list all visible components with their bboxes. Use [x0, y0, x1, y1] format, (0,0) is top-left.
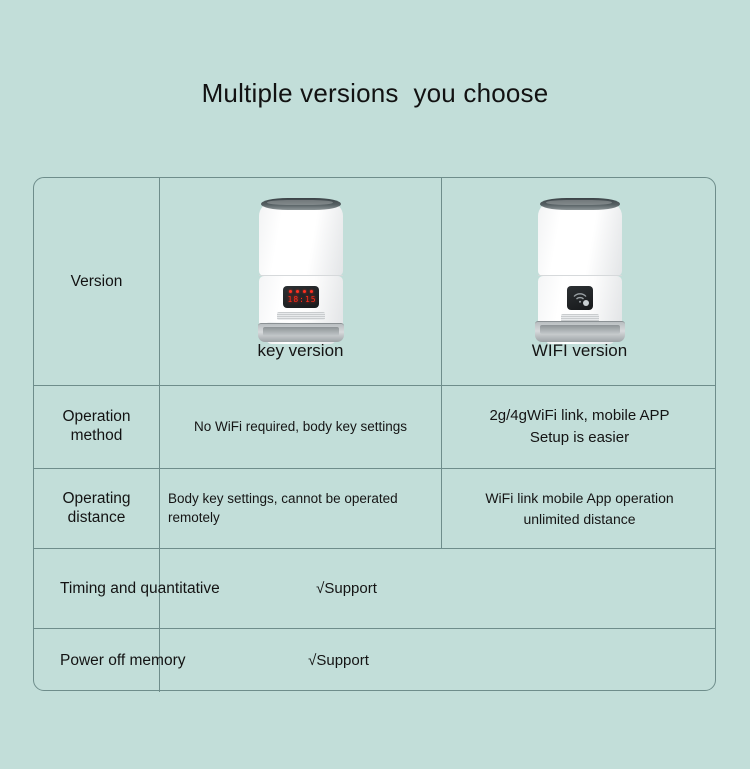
- table-row: Operating distance Body key settings, ca…: [34, 468, 715, 548]
- camera-panel: [567, 286, 593, 310]
- indicator-dot-icon: [583, 300, 589, 306]
- operation-wifi-line2: Setup is easier: [489, 427, 669, 449]
- pet-feeder-key-icon: 18:15: [253, 196, 349, 344]
- row-label-line1: Operating: [62, 490, 130, 509]
- row-label-line2: distance: [62, 509, 130, 528]
- distance-wifi-line2: unlimited distance: [485, 509, 673, 530]
- caption-wifi-version: WIFI version: [442, 341, 717, 361]
- cell-power-support: √Support: [160, 629, 717, 692]
- cell-timing-support: √Support: [160, 549, 717, 628]
- cell-operation-wifi: 2g/4gWiFi link, mobile APP Setup is easi…: [442, 386, 717, 468]
- cell-key-version: 18:15 key version: [160, 178, 441, 385]
- row-label-line2: method: [62, 427, 130, 446]
- food-tray: [258, 323, 344, 342]
- cell-distance-wifi: WiFi link mobile App operation unlimited…: [442, 469, 717, 548]
- comparison-table: Version 18:15 key version: [33, 177, 716, 691]
- led-digits: 18:15: [288, 295, 317, 304]
- led-display-panel: 18:15: [283, 286, 319, 308]
- pet-feeder-wifi-icon: [532, 196, 628, 344]
- row-label-timing-quantitative: Timing and quantitative: [34, 549, 226, 628]
- row-label-operating-distance: Operating distance: [34, 469, 159, 548]
- table-row: Timing and quantitative √Support: [34, 548, 715, 628]
- food-tray: [535, 321, 625, 342]
- caption-key-version: key version: [160, 341, 441, 361]
- cell-distance-key: Body key settings, cannot be operated re…: [160, 469, 441, 548]
- cell-wifi-version: WIFI version: [442, 178, 717, 385]
- cell-operation-key: No WiFi required, body key settings: [160, 386, 441, 468]
- row-label-line1: Operation: [62, 408, 130, 427]
- table-row: Version 18:15 key version: [34, 178, 715, 385]
- row-label-operation-method: Operation method: [34, 386, 159, 468]
- table-row: Operation method No WiFi required, body …: [34, 385, 715, 468]
- operation-wifi-line1: 2g/4gWiFi link, mobile APP: [489, 405, 669, 427]
- table-row: Power off memory √Support: [34, 628, 715, 692]
- row-label-power-off-memory: Power off memory: [34, 629, 191, 692]
- page-title: Multiple versions you choose: [0, 78, 750, 109]
- speaker-grille-icon: [277, 312, 325, 320]
- distance-wifi-line1: WiFi link mobile App operation: [485, 488, 673, 509]
- row-label-version: Version: [34, 178, 159, 385]
